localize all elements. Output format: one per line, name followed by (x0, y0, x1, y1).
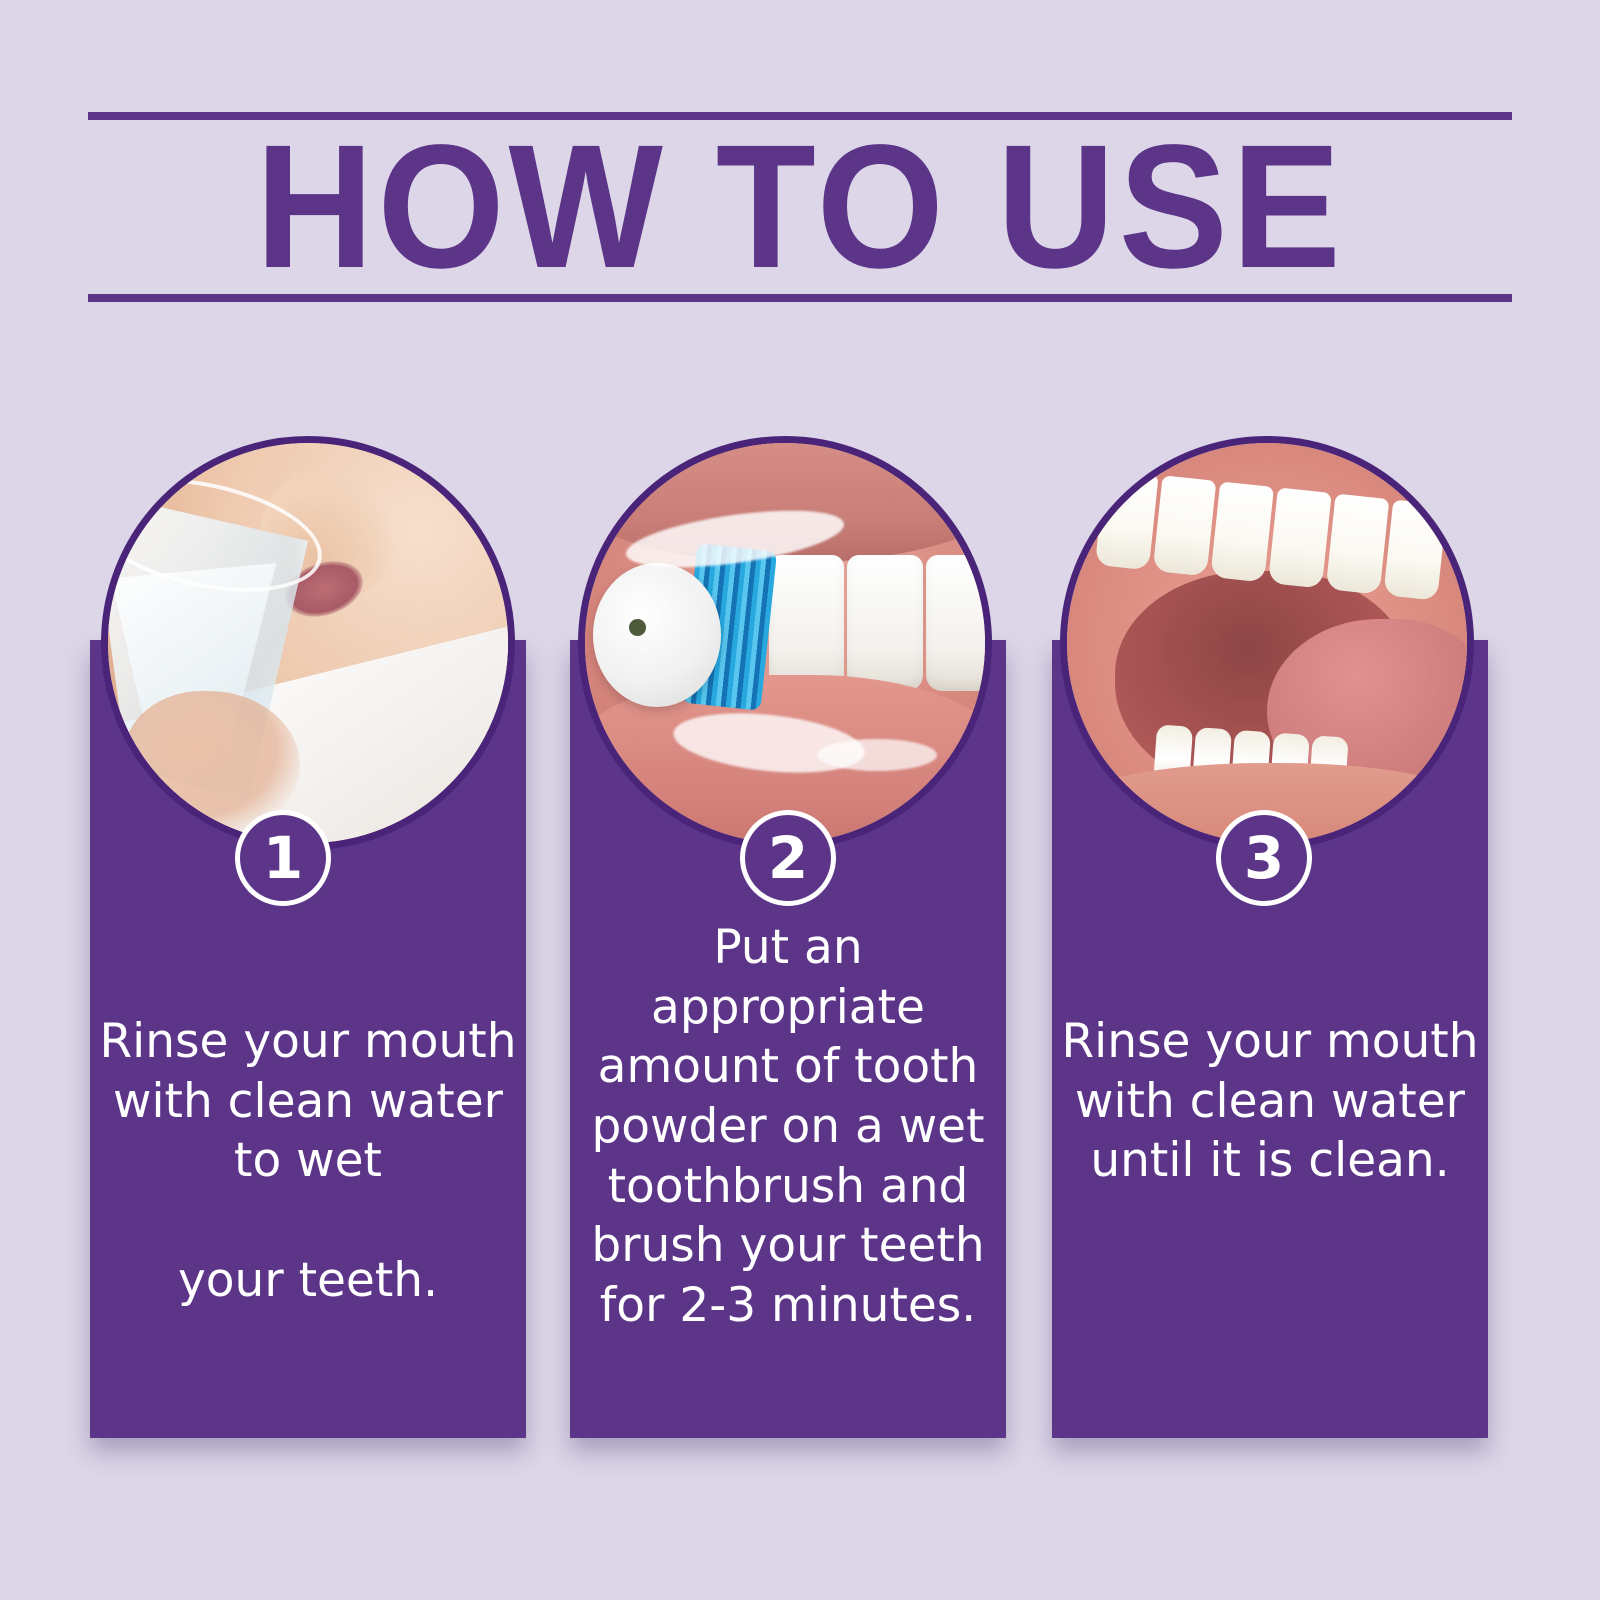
step-1-number-label: 1 (263, 829, 303, 887)
tooth-shape (1210, 481, 1274, 582)
toothpaste-foam-shape (817, 739, 937, 771)
step-3-number-badge: 3 (1216, 810, 1312, 906)
step-2-number-badge: 2 (740, 810, 836, 906)
open-mouth-clean-white-teeth-photo (1067, 443, 1467, 843)
tooth-shape (1153, 475, 1217, 576)
steps-container: 1 Rinse your mouth with clean water to w… (0, 0, 1600, 1600)
step-3-number-label: 3 (1244, 829, 1284, 887)
teeth-row-shape (769, 555, 985, 691)
step-2-number-label: 2 (768, 829, 808, 887)
woman-drinking-glass-of-water-photo (108, 443, 508, 843)
tooth-shape (769, 555, 844, 691)
tooth-shape (1095, 469, 1159, 570)
tooth-shape (926, 555, 985, 691)
toothbrush-head-shape (593, 563, 721, 707)
step-3-description: Rinse your mouth with clean water until … (1052, 1012, 1488, 1191)
toothbrush-head-dot-shape (629, 619, 646, 636)
tooth-shape (1268, 487, 1332, 588)
tooth-shape (1326, 494, 1390, 595)
step-2-description: Put an appropriate amount of tooth powde… (570, 918, 1006, 1336)
tooth-shape (1383, 500, 1447, 601)
step-3-image-circle (1060, 436, 1474, 850)
step-1-description: Rinse your mouth with clean water to wet… (90, 1012, 526, 1310)
step-2-image-circle (578, 436, 992, 850)
step-1-image-circle (101, 436, 515, 850)
toothbrush-brushing-teeth-closeup-photo (585, 443, 985, 843)
tooth-shape (847, 555, 922, 691)
step-1-number-badge: 1 (235, 810, 331, 906)
